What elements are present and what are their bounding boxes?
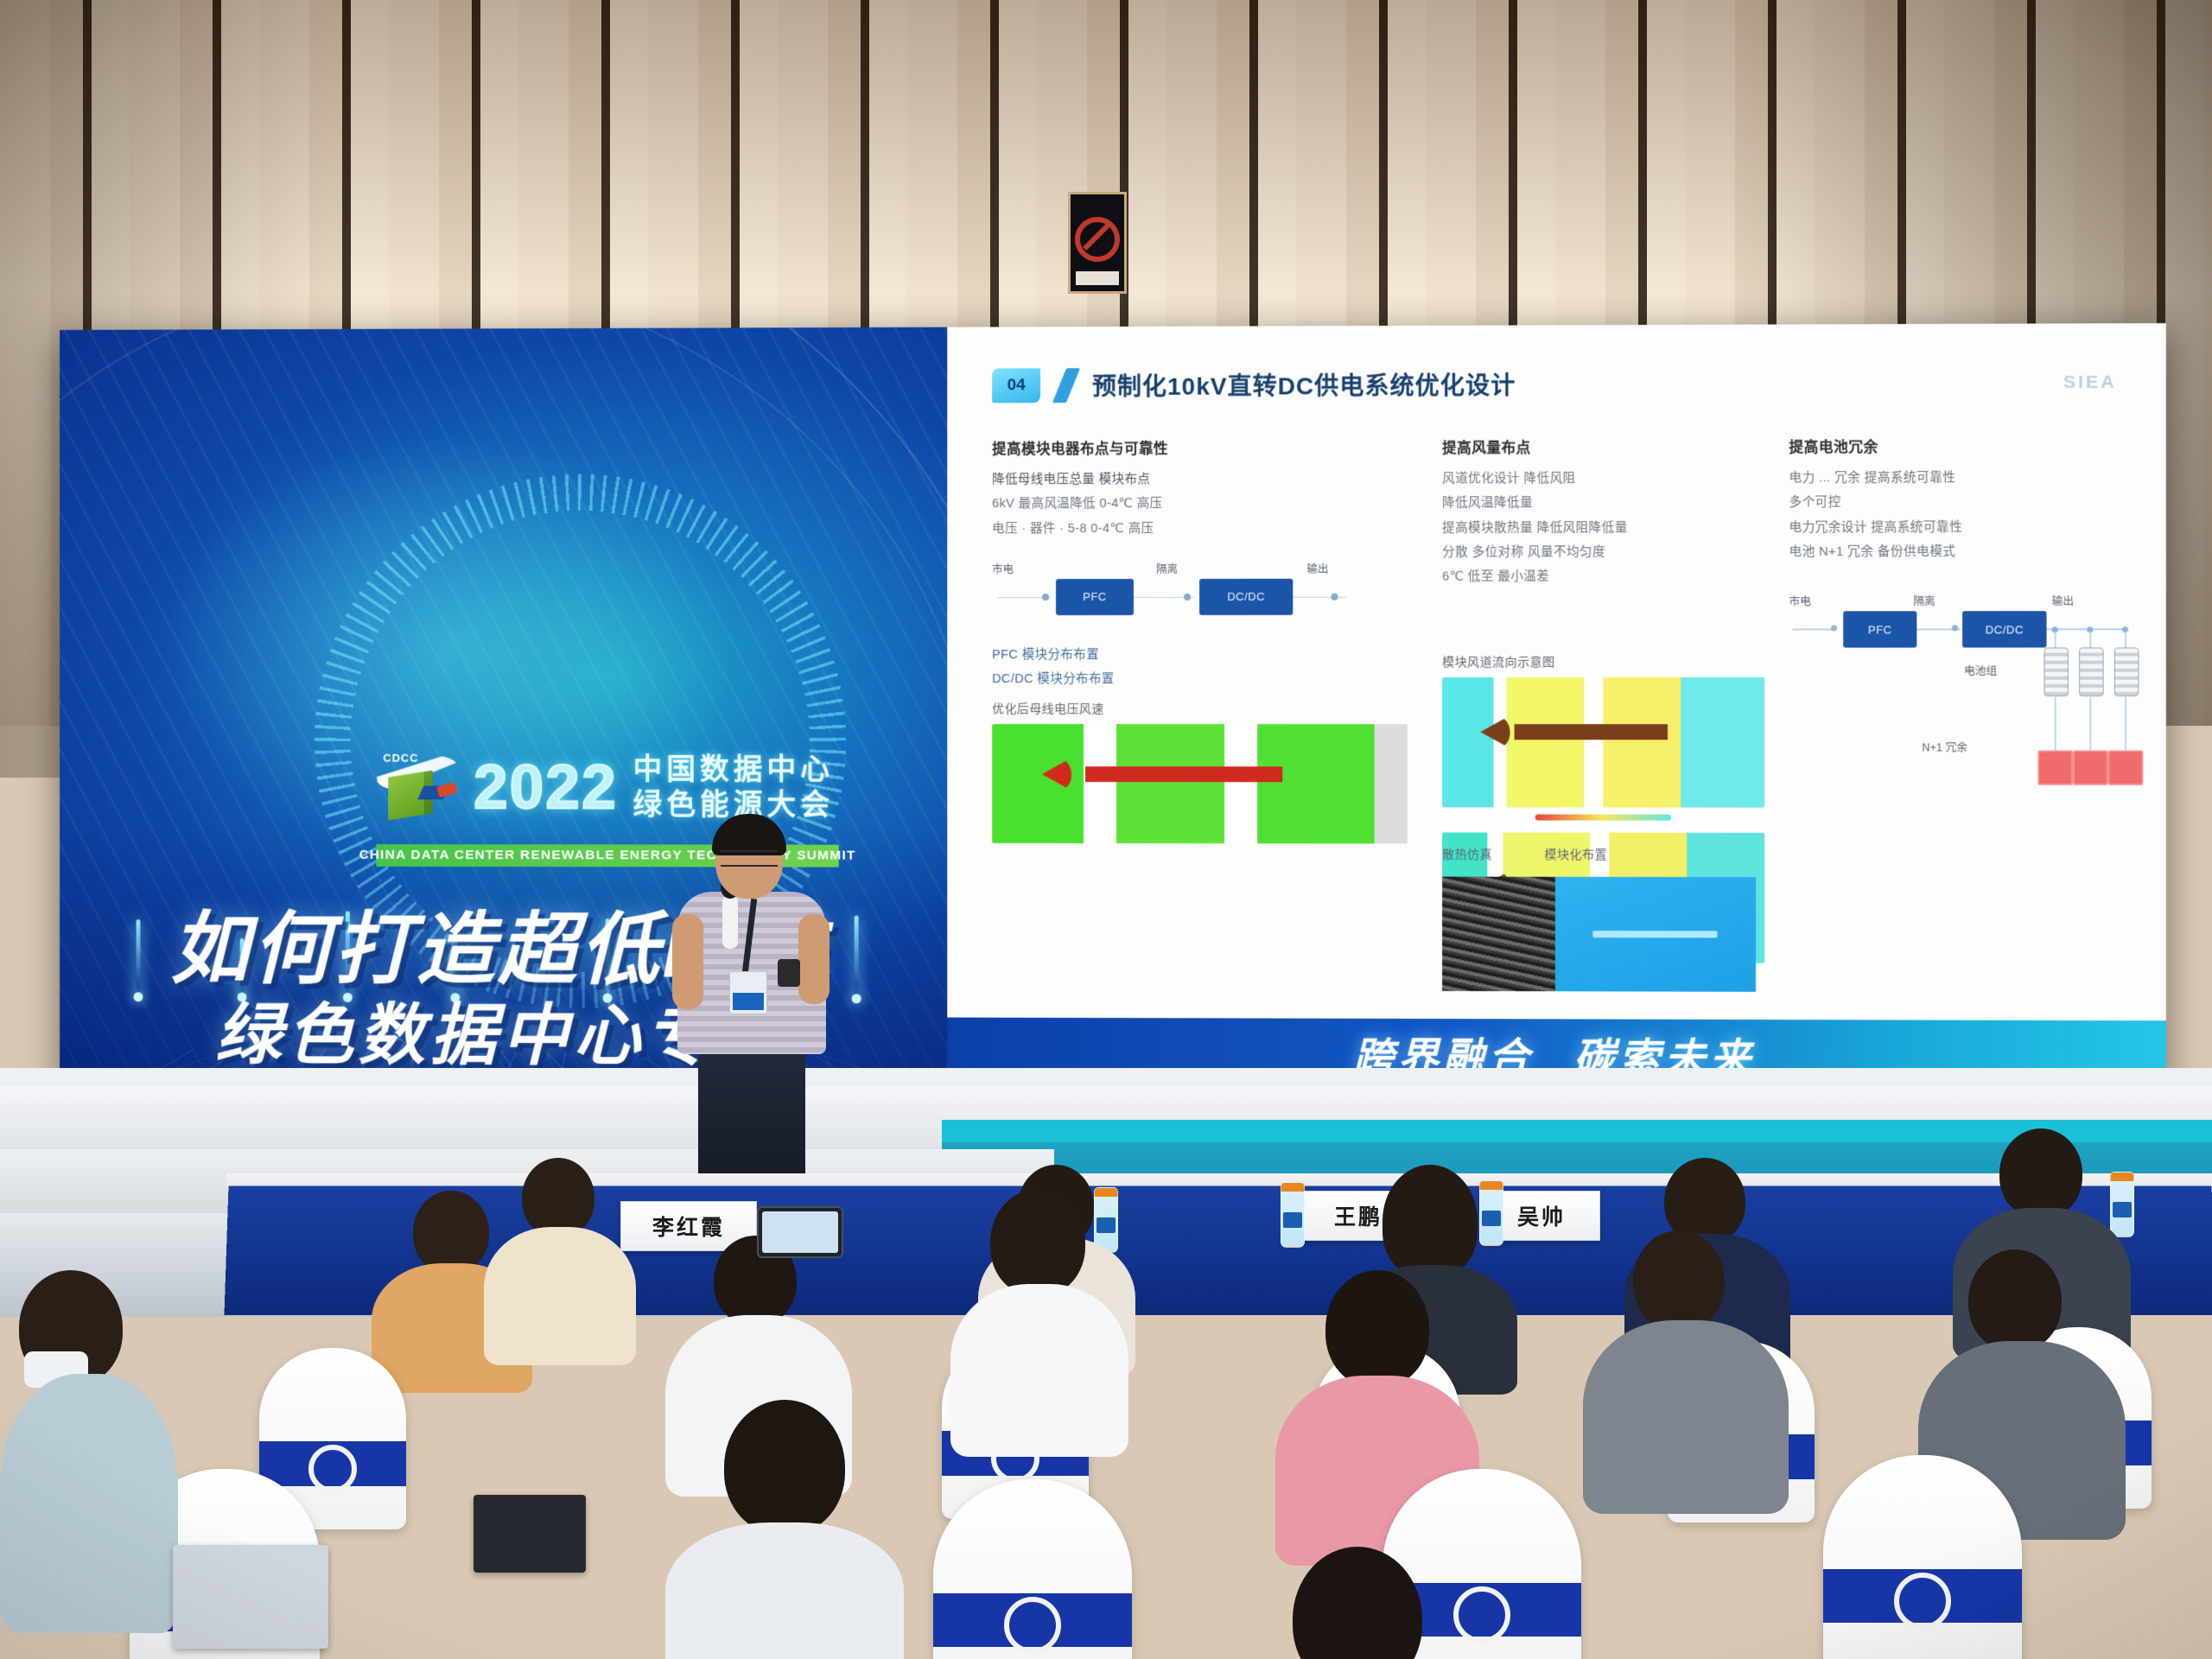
attendee-foreground (1227, 1547, 1486, 1659)
column-2-line: 分散 多位对称 风量不均匀度 (1442, 540, 1764, 565)
column-2-line: 提高模块散热量 降低风阻降低量 (1442, 515, 1764, 540)
presenter-arm-right (798, 914, 829, 1004)
load-input-label: 市电 (1789, 592, 1810, 608)
diagram-wire (1293, 597, 1346, 599)
column-1-note: PFC 模块分布布置 (992, 643, 1408, 668)
pair-caption-right: 模块化布置 (1544, 846, 1607, 863)
column-3-heading: 提高电池冗余 (1789, 435, 2131, 456)
attendee-head (1382, 1165, 1478, 1277)
cdcc-logo-lockup: CDCC 2022 中国数据中心 绿色能源大会 (376, 752, 834, 824)
load-center-note: 电池组 (1964, 662, 1997, 678)
column-1-line: 电压 · 器件 · 5-8 0-4℃ 高压 (992, 516, 1408, 541)
slide-title: 预制化10kV直转DC供电系统优化设计 (1092, 367, 1516, 403)
attendee-head (413, 1191, 489, 1274)
pair-caption-left: 散热仿真 (1442, 845, 1492, 862)
column-1-note: DC/DC 模块分布布置 (992, 667, 1408, 691)
attendee-head (1293, 1547, 1422, 1659)
water-bottle (1281, 1182, 1305, 1248)
slide-header-slash-icon (1052, 368, 1080, 403)
presenter-hair (712, 814, 786, 855)
banquet-chair (1823, 1455, 2022, 1659)
attendee-torso (665, 1522, 904, 1659)
airflow-arrow-icon (1481, 721, 1668, 743)
airflow-arrow-icon (1042, 763, 1283, 785)
banquet-chair (933, 1479, 1132, 1659)
column-3-load-diagram: 市电 隔离 输出 PFC DC/DC 电池组 N+1 冗余 (1789, 578, 2131, 831)
load-block-icon (2108, 750, 2144, 785)
presenter-on-stage (667, 819, 849, 1182)
column-1-line: 6kV 最高风温降低 0-4℃ 高压 (992, 492, 1408, 517)
column-1-figure-caption: 优化后母线电压风速 (992, 700, 1408, 717)
slide-header: 04 预制化10kV直转DC供电系统优化设计 (992, 367, 1516, 404)
attendee-torso (484, 1227, 636, 1365)
diagram-mid-label: 隔离 (1156, 560, 1178, 576)
attendee (950, 1189, 1123, 1440)
column-2-figure-top: 模块风道流向示意图 (1442, 653, 1764, 821)
slide-image-pair-wrap: 散热仿真 模块化布置 (1442, 845, 1756, 991)
diagram-node (1184, 594, 1191, 601)
diagram-node (1331, 594, 1338, 601)
attendee (484, 1158, 631, 1348)
lanyard-badge (729, 971, 767, 1014)
diagram-block-pfc: PFC (1056, 579, 1134, 615)
column-2-heading: 提高风量布点 (1442, 435, 1764, 457)
diagram-output-label: 输出 (1306, 559, 1328, 575)
load-node (1952, 625, 1958, 631)
bag (474, 1495, 586, 1573)
column-2-line: 风道优化设计 降低风阻 (1442, 466, 1764, 491)
load-branch-wire (2055, 632, 2056, 647)
column-3-line: 多个可控 (1789, 490, 2131, 515)
cdcc-wordmark: CDCC (383, 752, 418, 765)
load-block-dcdc: DC/DC (1962, 611, 2046, 647)
column-1-figure: 优化后母线电压风速 (992, 700, 1408, 843)
laptop (173, 1545, 328, 1649)
attendee-head (990, 1189, 1085, 1296)
slide-image-pair (1442, 877, 1756, 992)
sign-label-plate (1076, 271, 1119, 285)
attendee-head (724, 1400, 845, 1535)
cfd-airflow-image-a (1442, 677, 1764, 808)
load-wire (1793, 628, 1837, 630)
column-2-line: 6℃ 低至 最小温差 (1442, 564, 1764, 589)
led-screen: CDCC 2022 中国数据中心 绿色能源大会 CHINA DATA CENTE… (60, 323, 2166, 1090)
battery-module-icon (2079, 647, 2103, 696)
slide-corp-logo: SIEA (2063, 372, 2117, 393)
no-smoking-sign (1068, 192, 1127, 294)
load-block-icon (2073, 750, 2108, 785)
load-output-label: 输出 (2052, 592, 2074, 608)
event-name-cn-line1: 中国数据中心 (632, 754, 833, 786)
attendee-foreground (0, 1270, 173, 1633)
attendee-torso (0, 1374, 178, 1633)
attendee-torso (950, 1284, 1128, 1457)
attendee-foreground (665, 1400, 899, 1659)
load-mid-label: 隔离 (1913, 592, 1935, 608)
slide-section-badge: 04 (992, 368, 1040, 403)
slide-section-number: 04 (1007, 376, 1026, 395)
presentation-slide: 04 预制化10kV直转DC供电系统优化设计 SIEA 提高模块电器布点与可靠性… (947, 323, 2166, 1020)
chair-buckle-icon (1894, 1573, 1951, 1630)
load-node (1831, 625, 1837, 631)
smartphone-recording (757, 1206, 843, 1258)
cfd-airflow-image-green (992, 724, 1408, 843)
attendee-torso (1583, 1320, 1789, 1514)
column-3-line: 电力 ... 冗余 提高系统可靠性 (1789, 466, 2131, 491)
event-name-cn: 中国数据中心 绿色能源大会 (632, 754, 833, 821)
load-bottom-note: N+1 冗余 (1922, 738, 1967, 754)
column-2-line: 降低风温降低量 (1442, 491, 1764, 516)
column-1-line: 降低母线电压总量 模块布点 (992, 467, 1408, 492)
photo-grayscale-thumb (1442, 877, 1554, 992)
cfd-color-legend (1535, 815, 1671, 821)
battery-module-icon (2044, 648, 2068, 696)
load-block-icon (2037, 750, 2073, 785)
load-drop-wire (2089, 695, 2091, 751)
load-branch-wire (2089, 632, 2091, 647)
column-1-heading: 提高模块电器布点与可靠性 (992, 436, 1408, 458)
diagram-node (1042, 594, 1049, 601)
chair-buckle-icon (308, 1445, 357, 1493)
chair-buckle-icon (1004, 1597, 1061, 1654)
handheld-microphone (722, 895, 738, 949)
slide-column-3: 提高电池冗余 电力 ... 冗余 提高系统可靠性 多个可控 电力冗余设计 提高系… (1789, 435, 2131, 830)
load-drop-wire (2125, 695, 2126, 751)
attendee-head (1325, 1270, 1429, 1388)
conference-photo: CDCC 2022 中国数据中心 绿色能源大会 CHINA DATA CENTE… (0, 0, 2212, 1659)
column-3-line: 电力冗余设计 提高系统可靠性 (1789, 515, 2131, 540)
attendee-head (1633, 1230, 1725, 1331)
attendee-head (522, 1158, 594, 1237)
diagram-input-label: 市电 (992, 560, 1014, 576)
presenter-trousers (698, 1046, 805, 1182)
eyeglasses-icon (721, 850, 778, 867)
cdcc-red-accent-icon (436, 782, 457, 798)
presenter-arm-left (672, 914, 703, 1009)
load-block-pfc: PFC (1843, 611, 1916, 647)
attendee-head (1968, 1249, 2062, 1351)
column-1-block-diagram: 市电 隔离 输出 PFC DC/DC (992, 559, 1408, 643)
load-drop-wire (2055, 695, 2056, 751)
presentation-clicker (778, 959, 800, 987)
battery-module-icon (2114, 647, 2139, 696)
attendee (1583, 1230, 1782, 1507)
load-branch-wire (2125, 632, 2126, 647)
cdcc-mark-icon: CDCC (376, 752, 458, 824)
name-placard-text: 吴帅 (1517, 1200, 1566, 1231)
diagram-block-dcdc: DC/DC (1199, 579, 1293, 615)
slide-column-1: 提高模块电器布点与可靠性 降低母线电压总量 模块布点 6kV 最高风温降低 0-… (992, 436, 1408, 844)
attendee-head (1999, 1128, 2082, 1218)
column-2-figure-caption: 模块风道流向示意图 (1442, 653, 1764, 671)
column-3-line: 电池 N+1 冗余 备份供电模式 (1789, 539, 2131, 564)
photo-blue-thumb (1555, 877, 1757, 992)
event-year: 2022 (474, 760, 618, 817)
